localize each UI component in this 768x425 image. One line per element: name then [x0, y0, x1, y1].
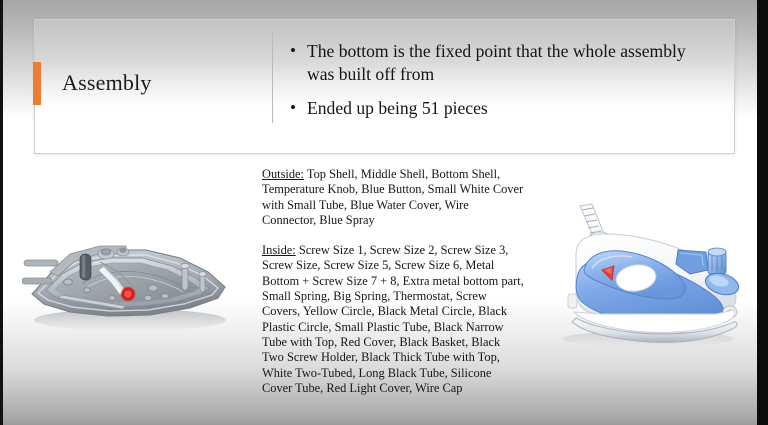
page-title: Assembly: [62, 66, 262, 100]
iron-baseplate-assembly-image: [22, 228, 234, 340]
inside-label: Inside:: [262, 243, 296, 257]
header-divider: [272, 33, 273, 123]
bullet-item-1: • The bottom is the fixed point that the…: [288, 40, 708, 86]
bullet-dot-icon: •: [290, 39, 296, 62]
bullet-dot-icon: •: [290, 96, 296, 119]
bullet-list: • The bottom is the fixed point that the…: [288, 40, 708, 131]
parts-list-text-column: Outside: Top Shell, Middle Shell, Bottom…: [262, 167, 524, 396]
title-accent-bar: [33, 62, 41, 105]
presentation-slide: Assembly • The bottom is the fixed point…: [0, 0, 768, 425]
bullet-item-2-text: Ended up being 51 pieces: [307, 98, 488, 118]
slide-right-edge: [757, 0, 768, 425]
blue-white-iron-image: [530, 196, 754, 354]
bullet-item-1-text: The bottom is the fixed point that the w…: [307, 41, 686, 84]
inside-parts-text: Screw Size 1, Screw Size 2, Screw Size 3…: [262, 243, 524, 395]
outside-label: Outside:: [262, 167, 304, 181]
inside-parts-paragraph: Inside: Screw Size 1, Screw Size 2, Scre…: [262, 243, 524, 396]
slide-left-edge: [0, 0, 3, 425]
outside-parts-paragraph: Outside: Top Shell, Middle Shell, Bottom…: [262, 167, 524, 228]
bullet-item-2: • Ended up being 51 pieces: [288, 97, 708, 120]
